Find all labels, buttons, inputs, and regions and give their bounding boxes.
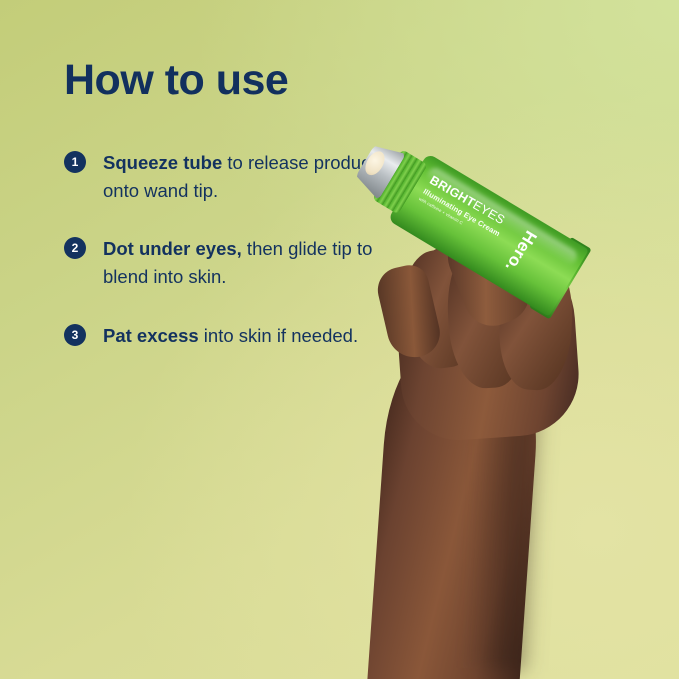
how-to-use-graphic: How to use 1 Squeeze tube to release pro…	[0, 0, 679, 679]
hand-holding-product-photo	[0, 0, 679, 679]
wrist-shading	[463, 398, 547, 671]
